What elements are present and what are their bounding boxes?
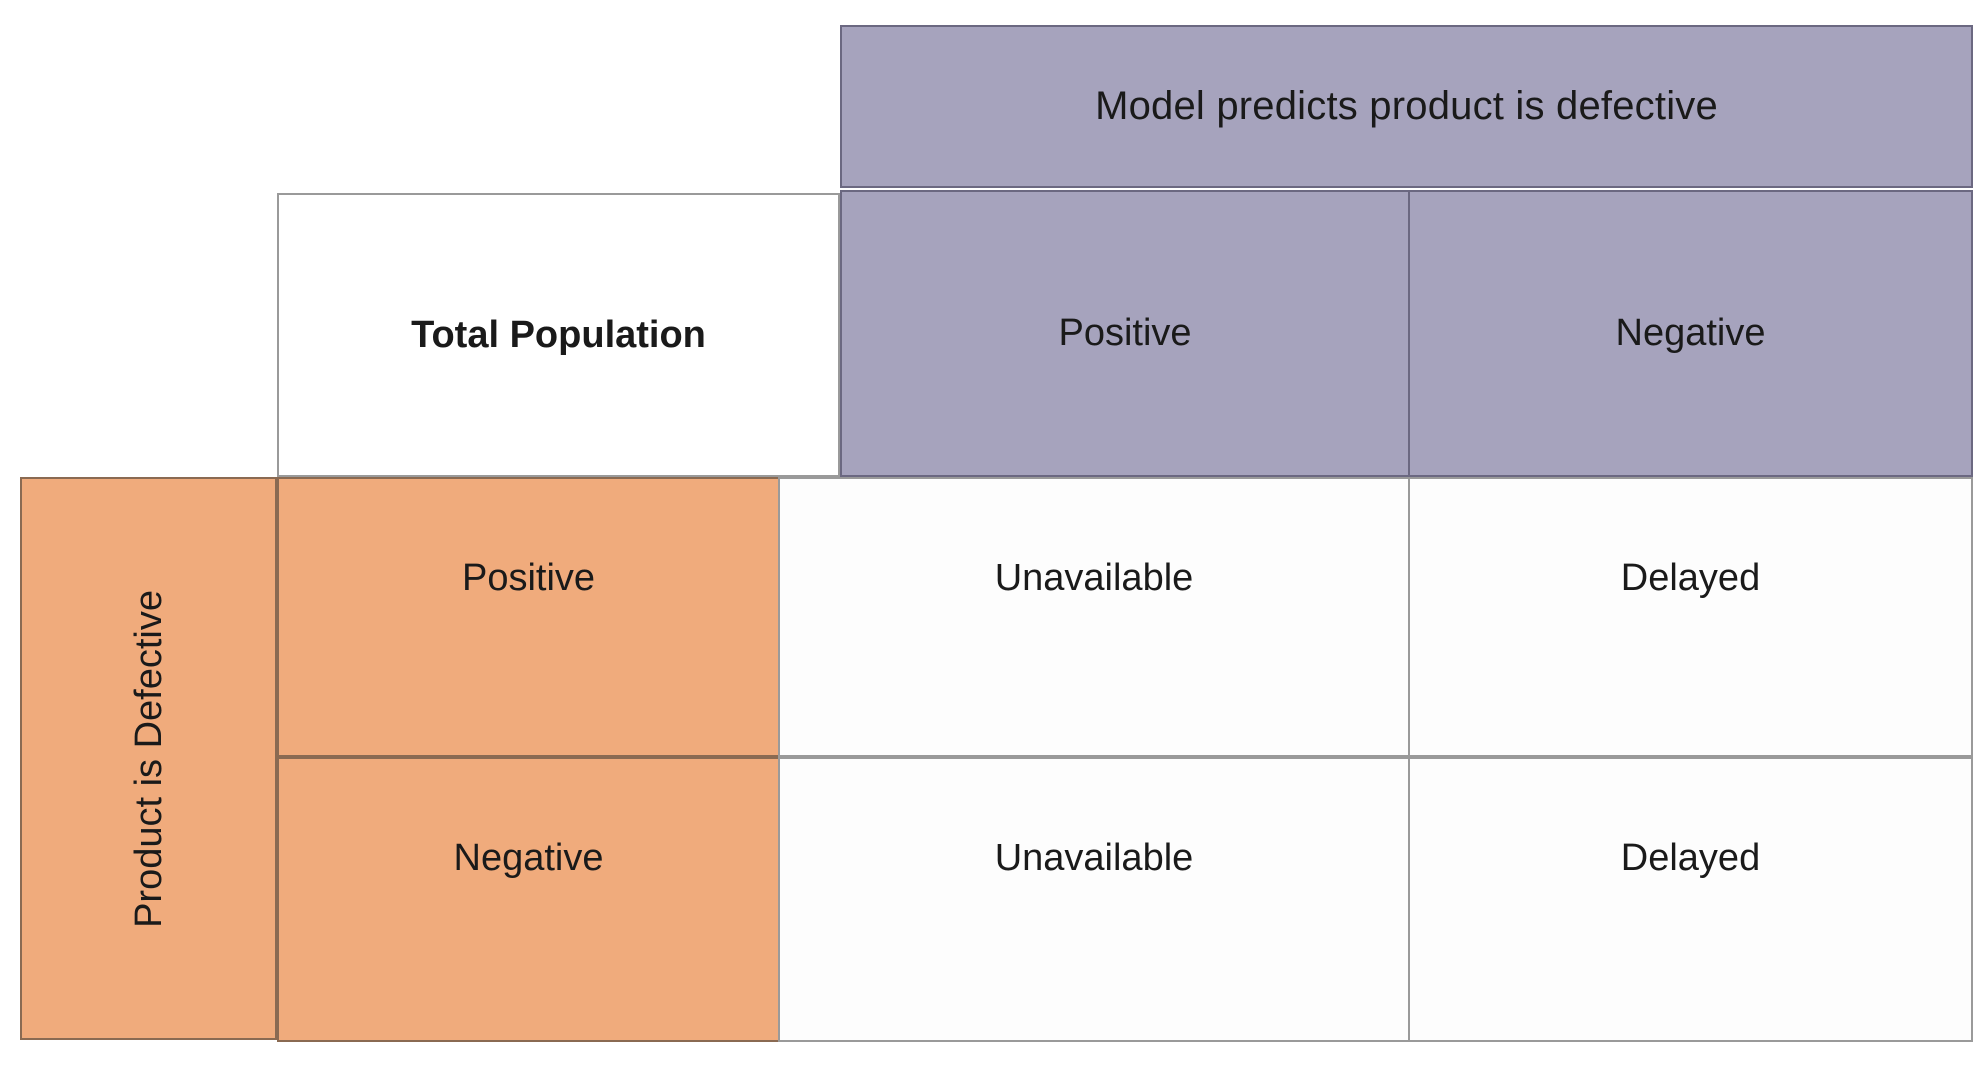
predicted-group-header: Model predicts product is defective [840,25,1973,188]
total-population-cell: Total Population [277,193,840,477]
matrix-cell-true-positive: Unavailable [778,477,1410,757]
matrix-cell-false-negative-label: Delayed [1621,557,1760,600]
matrix-cell-false-positive-label: Unavailable [995,837,1194,880]
matrix-cell-false-positive: Unavailable [778,757,1410,1042]
total-population-label: Total Population [411,314,706,357]
actual-row-header-positive-label: Positive [462,557,595,600]
actual-row-header-negative-label: Negative [454,837,604,880]
predicted-column-header-positive: Positive [840,190,1410,477]
confusion-matrix-diagram: Model predicts product is defective Tota… [0,0,1988,1080]
matrix-cell-true-negative-label: Delayed [1621,837,1760,880]
actual-group-header-label: Product is Defective [130,590,168,928]
actual-group-header: Product is Defective [20,477,277,1040]
predicted-column-header-positive-label: Positive [1058,312,1191,355]
predicted-group-header-label: Model predicts product is defective [1095,84,1718,129]
actual-row-header-positive: Positive [277,477,780,757]
actual-row-header-negative: Negative [277,757,780,1042]
matrix-cell-true-negative: Delayed [1408,757,1973,1042]
predicted-column-header-negative-label: Negative [1616,312,1766,355]
matrix-cell-false-negative: Delayed [1408,477,1973,757]
predicted-column-header-negative: Negative [1408,190,1973,477]
matrix-cell-true-positive-label: Unavailable [995,557,1194,600]
